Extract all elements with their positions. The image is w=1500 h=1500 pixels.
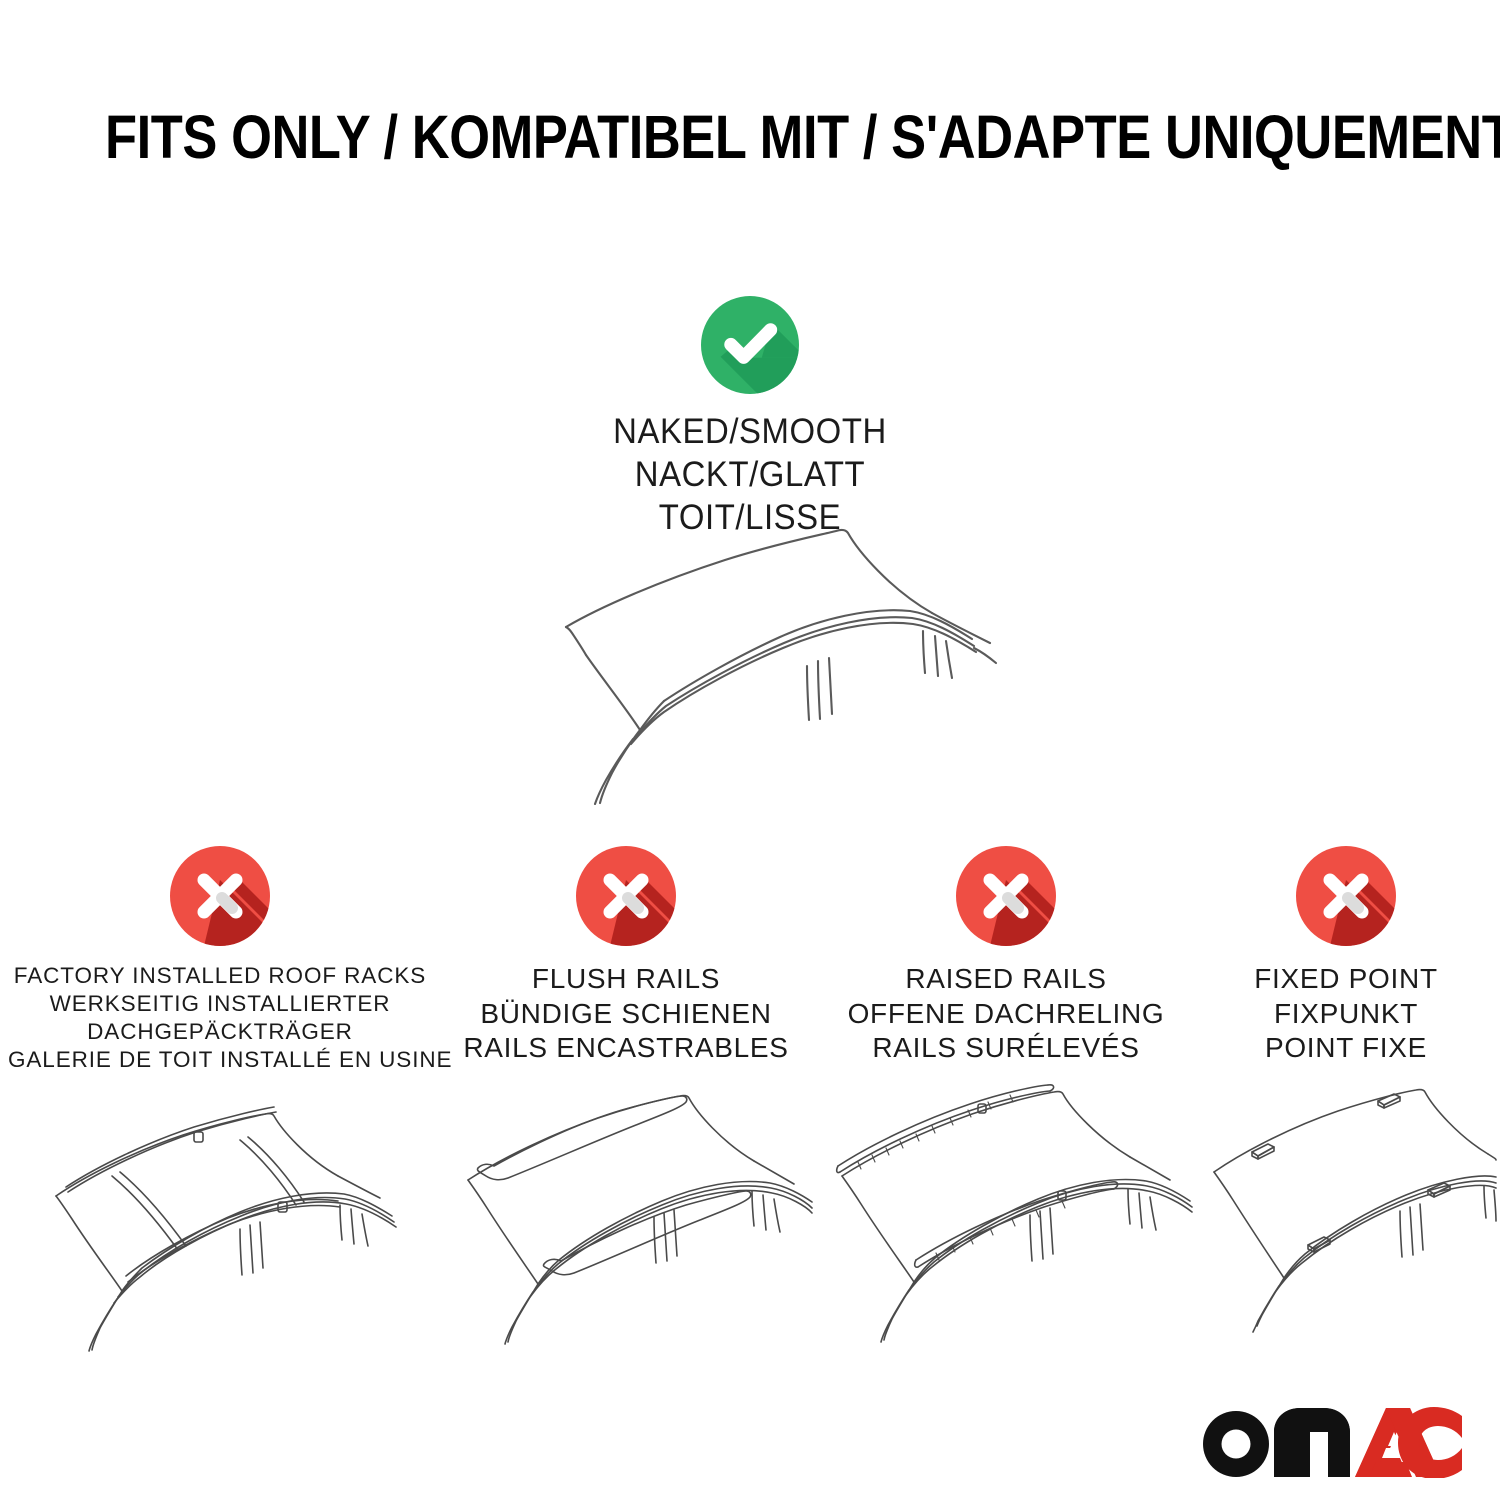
- label-line-2: OFFENE DACHRELING: [820, 997, 1192, 1032]
- incompatible-label: FACTORY INSTALLED ROOF RACKS WERKSEITIG …: [8, 962, 432, 1074]
- x-circle-icon: [1296, 846, 1396, 946]
- label-line-2: BÜNDIGE SCHIENEN: [440, 997, 812, 1032]
- x-circle-icon: [170, 846, 270, 946]
- badge-wrap: [1196, 846, 1496, 958]
- car-roof-naked-smooth-illustration: [480, 515, 1025, 805]
- label-line-3: POINT FIXE: [1196, 1031, 1496, 1066]
- incompatible-section: FACTORY INSTALLED ROOF RACKS WERKSEITIG …: [0, 846, 1500, 1486]
- label-line-2: WERKSEITIG INSTALLIERTER: [8, 990, 432, 1018]
- page-title: FITS ONLY / KOMPATIBEL MIT / S'ADAPTE UN…: [105, 104, 1395, 171]
- omac-logo: [1200, 1400, 1462, 1478]
- badge-wrap: [440, 846, 812, 958]
- label-line-2: FIXPUNKT: [1196, 997, 1496, 1032]
- incompatible-label: FIXED POINT FIXPUNKT POINT FIXE: [1196, 962, 1496, 1066]
- label-line-1: FLUSH RAILS: [440, 962, 812, 997]
- check-circle-icon: [701, 296, 799, 394]
- compatible-label-line-2: NACKT/GLATT: [529, 453, 971, 496]
- compatible-section: NAKED/SMOOTH NACKT/GLATT TOIT/LISSE: [515, 296, 985, 539]
- car-roof-factory-rack-illustration: [8, 1088, 432, 1323]
- incompatible-label: RAISED RAILS OFFENE DACHRELING RAILS SUR…: [820, 962, 1192, 1066]
- label-line-3: RAILS SURÉLEVÉS: [820, 1031, 1192, 1066]
- x-circle-icon: [956, 846, 1056, 946]
- incompatible-item-fixed-point: FIXED POINT FIXPUNKT POINT FIXE: [1196, 846, 1496, 1315]
- label-line-3: DACHGEPÄCKTRÄGER: [8, 1018, 432, 1046]
- logo-letter-o: [1203, 1411, 1269, 1477]
- label-line-4: GALERIE DE TOIT INSTALLÉ EN USINE: [8, 1046, 432, 1074]
- compatible-label-line-1: NAKED/SMOOTH: [529, 410, 971, 453]
- label-line-3: RAILS ENCASTRABLES: [440, 1031, 812, 1066]
- car-roof-flush-rails-illustration: [440, 1080, 812, 1315]
- car-roof-fixed-point-illustration: [1196, 1080, 1496, 1315]
- incompatible-item-raised-rails: RAISED RAILS OFFENE DACHRELING RAILS SUR…: [820, 846, 1192, 1315]
- incompatible-item-factory-installed-roof-racks: FACTORY INSTALLED ROOF RACKS WERKSEITIG …: [8, 846, 432, 1323]
- incompatible-item-flush-rails: FLUSH RAILS BÜNDIGE SCHIENEN RAILS ENCAS…: [440, 846, 812, 1315]
- badge-wrap: [8, 846, 432, 958]
- car-roof-raised-rails-illustration: [820, 1080, 1192, 1315]
- label-line-1: RAISED RAILS: [820, 962, 1192, 997]
- incompatible-label: FLUSH RAILS BÜNDIGE SCHIENEN RAILS ENCAS…: [440, 962, 812, 1066]
- label-line-1: FIXED POINT: [1196, 962, 1496, 997]
- x-circle-icon: [576, 846, 676, 946]
- label-line-1: FACTORY INSTALLED ROOF RACKS: [8, 962, 432, 990]
- logo-letter-m: [1274, 1408, 1350, 1477]
- badge-wrap: [820, 846, 1192, 958]
